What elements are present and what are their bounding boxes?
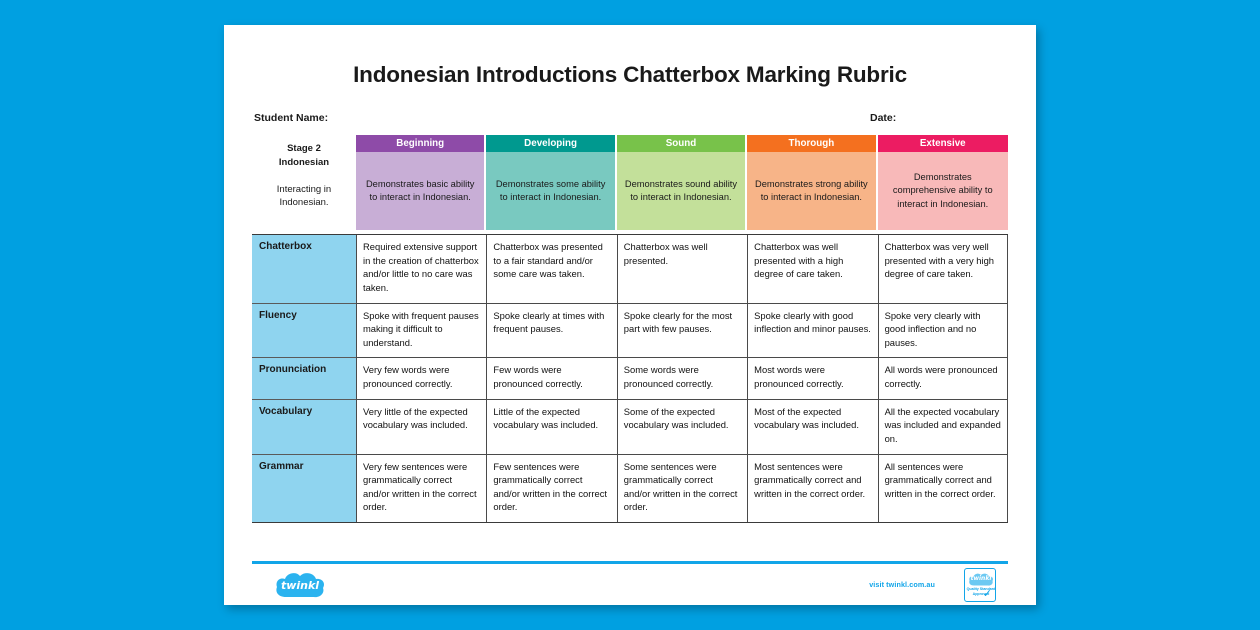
rubric-body: ChatterboxRequired extensive support in … [252, 234, 1008, 523]
rubric-cell: Spoke with frequent pauses making it dif… [356, 304, 486, 359]
level-column-3: SoundDemonstrates sound ability to inter… [617, 135, 745, 230]
criterion-label: Fluency [252, 304, 356, 359]
rubric-cell: Required extensive support in the creati… [356, 235, 486, 304]
level-column-4: ThoroughDemonstrates strong ability to i… [747, 135, 875, 230]
rubric-cell: Most sentences were grammatically correc… [747, 455, 877, 523]
level-title: Extensive [878, 135, 1008, 152]
rubric-cell: Chatterbox was well presented. [617, 235, 747, 304]
rubric-cell: Spoke clearly at times with frequent pau… [486, 304, 616, 359]
rubric-cell: Little of the expected vocabulary was in… [486, 400, 616, 455]
rubric-cell: Chatterbox was very well presented with … [878, 235, 1008, 304]
twinkl-logo-icon[interactable]: twinkl [274, 570, 326, 600]
rubric-cell: Few sentences were grammatically correct… [486, 455, 616, 523]
stage-line2: Indonesian [252, 156, 356, 170]
footer-divider [252, 561, 1008, 564]
criterion-label: Pronunciation [252, 358, 356, 399]
level-description: Demonstrates comprehensive ability to in… [878, 152, 1008, 230]
stage-line1: Stage 2 [252, 142, 356, 156]
check-icon: ✓ [983, 589, 992, 600]
rubric-table: Stage 2 Indonesian Interacting in Indone… [252, 135, 1008, 523]
page-title: Indonesian Introductions Chatterbox Mark… [224, 62, 1036, 88]
visit-link[interactable]: visit twinkl.com.au [869, 580, 935, 589]
rubric-cell: Chatterbox was presented to a fair stand… [486, 235, 616, 304]
level-description: Demonstrates strong ability to interact … [747, 152, 875, 230]
criterion-label: Grammar [252, 455, 356, 523]
rubric-cell: Very little of the expected vocabulary w… [356, 400, 486, 455]
rubric-cell: All sentences were grammatically correct… [878, 455, 1008, 523]
rubric-cell: All the expected vocabulary was included… [878, 400, 1008, 455]
level-description: Demonstrates basic ability to interact i… [356, 152, 484, 230]
rubric-cell: Some of the expected vocabulary was incl… [617, 400, 747, 455]
date-label: Date: [870, 112, 896, 124]
level-column-2: DevelopingDemonstrates some ability to i… [486, 135, 614, 230]
rubric-cell: Spoke clearly for the most part with few… [617, 304, 747, 359]
rubric-cell: Some words were pronounced correctly. [617, 358, 747, 399]
level-title: Thorough [747, 135, 875, 152]
level-column-1: BeginningDemonstrates basic ability to i… [356, 135, 484, 230]
level-description: Demonstrates sound ability to interact i… [617, 152, 745, 230]
rubric-cell: Most words were pronounced correctly. [747, 358, 877, 399]
rubric-cell: Spoke very clearly with good inflection … [878, 304, 1008, 359]
student-name-label: Student Name: [254, 112, 328, 124]
quality-badge: twinkl Quality Standard Approved ✓ [964, 568, 996, 602]
rubric-header: Stage 2 Indonesian Interacting in Indone… [252, 135, 1008, 230]
level-title: Developing [486, 135, 614, 152]
rubric-cell: Few words were pronounced correctly. [486, 358, 616, 399]
level-column-5: ExtensiveDemonstrates comprehensive abil… [878, 135, 1008, 230]
meta-row: Student Name: Date: [224, 112, 1036, 128]
level-title: Beginning [356, 135, 484, 152]
rubric-cell: All words were pronounced correctly. [878, 358, 1008, 399]
rubric-cell: Very few sentences were grammatically co… [356, 455, 486, 523]
rubric-cell: Most of the expected vocabulary was incl… [747, 400, 877, 455]
stage-sub1: Interacting in [252, 183, 356, 197]
rubric-cell: Some sentences were grammatically correc… [617, 455, 747, 523]
rubric-cell: Very few words were pronounced correctly… [356, 358, 486, 399]
level-description: Demonstrates some ability to interact in… [486, 152, 614, 230]
stage-cell: Stage 2 Indonesian Interacting in Indone… [252, 135, 356, 230]
badge-logo-text: twinkl [968, 575, 994, 582]
twinkl-logo-text: twinkl [274, 579, 326, 592]
criterion-label: Chatterbox [252, 235, 356, 304]
stage-sub2: Indonesian. [252, 196, 356, 210]
rubric-page: Indonesian Introductions Chatterbox Mark… [224, 25, 1036, 605]
criterion-label: Vocabulary [252, 400, 356, 455]
level-title: Sound [617, 135, 745, 152]
rubric-cell: Spoke clearly with good inflection and m… [747, 304, 877, 359]
footer: twinkl visit twinkl.com.au twinkl Qualit… [252, 568, 1008, 602]
rubric-cell: Chatterbox was well presented with a hig… [747, 235, 877, 304]
